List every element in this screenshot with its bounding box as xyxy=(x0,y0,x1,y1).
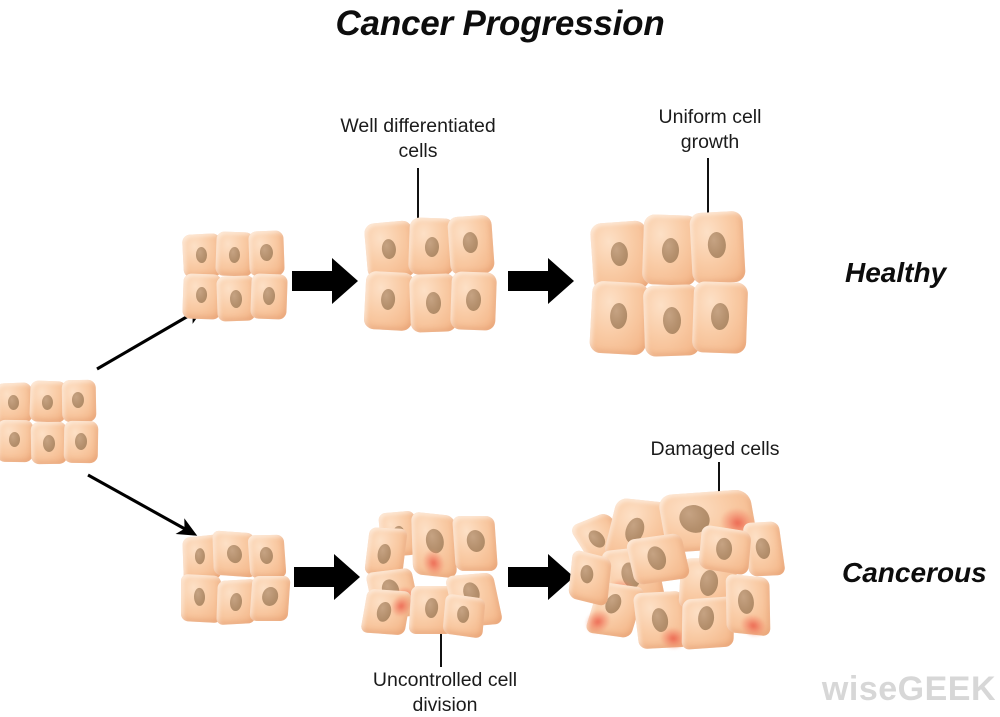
callout-uniform-cell-growth: Uniform cell growth xyxy=(622,105,798,155)
cell xyxy=(248,230,285,276)
cell-nucleus xyxy=(698,606,714,631)
watermark-suffix: GEEK xyxy=(898,670,996,708)
cell-nucleus xyxy=(456,605,469,624)
cell-nucleus xyxy=(381,239,397,260)
cell xyxy=(0,420,33,463)
cell xyxy=(250,273,288,319)
cell xyxy=(360,589,412,636)
cell-nucleus xyxy=(425,598,439,618)
cell-nucleus xyxy=(195,548,206,565)
cell-nucleus xyxy=(609,303,627,330)
row-label-healthy: Healthy xyxy=(845,257,946,289)
cell xyxy=(364,271,415,331)
arrow-healthy-stage2-to-stage3 xyxy=(508,257,574,305)
cell xyxy=(698,524,751,576)
cell-nucleus xyxy=(610,241,629,266)
cell xyxy=(409,273,457,333)
healthy-stage-2-cluster xyxy=(366,210,496,332)
cell-nucleus xyxy=(376,544,391,565)
origin-cell-cluster xyxy=(0,378,95,468)
cell xyxy=(568,549,612,607)
cell-nucleus xyxy=(462,232,478,254)
cell xyxy=(447,215,495,276)
cell xyxy=(31,422,68,465)
cell-nucleus xyxy=(663,307,682,335)
arrow-cancerous-stage2-to-stage3 xyxy=(508,553,574,601)
cell-nucleus xyxy=(8,395,20,410)
callout-uncontrolled-cell-division: Uncontrolled cell division xyxy=(330,668,560,717)
cell-nucleus xyxy=(230,290,243,308)
cell xyxy=(64,421,99,464)
callout-well-differentiated-cells: Well differentiated cells xyxy=(320,114,516,164)
cell-nucleus xyxy=(196,247,208,264)
page-title: Cancer Progression xyxy=(0,4,1000,44)
cell-nucleus xyxy=(261,587,278,606)
cell-nucleus xyxy=(381,289,396,311)
cell-nucleus xyxy=(42,395,54,410)
cell xyxy=(643,284,700,357)
cell-nucleus xyxy=(9,432,20,447)
healthy-stage-1-cluster xyxy=(183,228,283,323)
cell xyxy=(249,576,290,621)
cell xyxy=(411,511,457,578)
cell-nucleus xyxy=(375,601,392,622)
healthy-stage-3-cluster xyxy=(592,208,747,356)
cell-nucleus xyxy=(425,237,440,257)
cancerous-stage-1-cluster xyxy=(183,528,288,623)
cell-nucleus xyxy=(711,303,730,331)
cell-damage-area xyxy=(740,613,766,638)
cell-nucleus xyxy=(738,589,754,615)
cell-nucleus xyxy=(707,232,726,259)
cell-nucleus xyxy=(227,544,243,563)
cell-nucleus xyxy=(196,287,208,303)
cell xyxy=(182,273,222,319)
cell xyxy=(450,271,497,331)
cell xyxy=(452,516,498,571)
cell-nucleus xyxy=(260,244,274,261)
arrow-healthy-stage1-to-stage2 xyxy=(292,257,358,305)
callout-damaged-cells: Damaged cells xyxy=(620,437,810,462)
cell-damage-area xyxy=(422,549,445,578)
cell-nucleus xyxy=(662,238,680,264)
wisegeek-watermark: wiseGEEK xyxy=(822,670,996,709)
cell xyxy=(589,281,649,356)
cell-nucleus xyxy=(263,287,276,305)
cell-nucleus xyxy=(72,392,84,408)
cell-nucleus xyxy=(580,564,595,585)
cell-nucleus xyxy=(715,537,733,561)
cell xyxy=(0,382,33,423)
cell-nucleus xyxy=(754,538,771,560)
cell-nucleus xyxy=(645,545,668,571)
cell xyxy=(247,535,286,579)
cell xyxy=(726,573,771,636)
cell xyxy=(181,574,221,623)
arrow-cancerous-stage1-to-stage2 xyxy=(294,553,360,601)
cell-nucleus xyxy=(229,247,241,263)
cancerous-stage-3-cluster xyxy=(570,492,770,652)
cell-nucleus xyxy=(699,570,719,596)
cancer-progression-diagram: Cancer Progression Well differentiated c… xyxy=(0,0,1000,717)
cell xyxy=(692,281,748,354)
cell xyxy=(625,533,691,586)
cell-nucleus xyxy=(43,435,55,452)
cell xyxy=(442,593,485,638)
cell-nucleus xyxy=(259,547,273,564)
cell-nucleus xyxy=(230,593,243,612)
cell xyxy=(689,211,746,285)
cell-nucleus xyxy=(466,289,482,312)
cell-nucleus xyxy=(194,588,205,607)
cell-nucleus xyxy=(75,433,87,450)
cell xyxy=(216,275,256,321)
cell-nucleus xyxy=(466,530,486,552)
cancerous-stage-2-cluster xyxy=(364,512,509,637)
cell-nucleus xyxy=(426,292,442,315)
row-label-cancerous: Cancerous xyxy=(842,557,987,589)
cell xyxy=(62,380,97,423)
watermark-prefix: wise xyxy=(822,670,898,708)
